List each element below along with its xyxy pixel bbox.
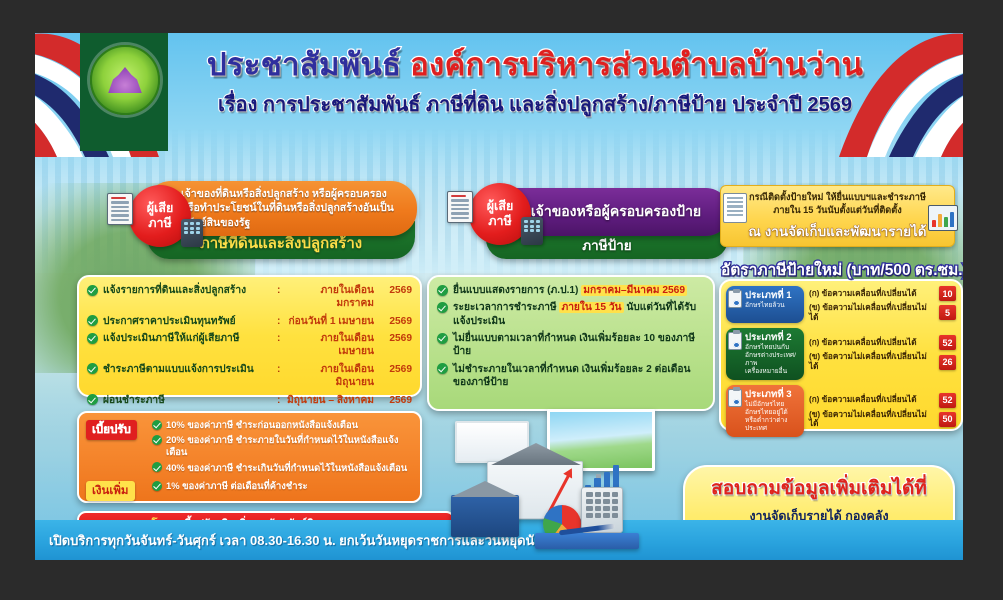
rate-item-text: (ข) ข้อความไม่เคลื่อนที่/เปลี่ยนไม่ได้ <box>809 410 935 430</box>
rate-item: (ก) ข้อความเคลื่อนที่/เปลี่ยนได้ 10 <box>809 286 956 301</box>
rate-row: ประเภทที่ 2 อักษรไทยปนกับ อักษรต่างประเท… <box>726 328 956 380</box>
fine-row: 40% ของค่าภาษี ชำระเกินวันที่กำหนดไว้ในห… <box>152 462 413 474</box>
rate-row: ประเภทที่ 3 ไม่มีอักษรไทย อักษรไทยอยู่ใต… <box>726 385 956 437</box>
schedule-row: แจ้งประเมินภาษีให้แก่ผู้เสียภาษี : ภายใน… <box>87 332 412 359</box>
schedule-colon: : <box>277 363 283 376</box>
notice-line-1: กรณีติดตั้งป้ายใหม่ ให้ยื่นแบบฯและชำระภา… <box>727 191 948 204</box>
surcharge-label: เงินเพิ่ม <box>86 481 135 501</box>
document-icon <box>447 191 473 223</box>
check-icon <box>437 363 448 374</box>
rate-type-name: ประเภทที่ 3 <box>745 389 800 400</box>
schedule-year: 2569 <box>382 315 412 328</box>
schedule-when: ภายในเดือน มิถุนายน <box>285 363 380 390</box>
rule-row: ไม่ยื่นแบบตามเวลาที่กำหนด เงินเพิ่มร้อยล… <box>437 332 705 359</box>
rule-row: ไม่ชำระภายในเวลาที่กำหนด เงินเพิ่มร้อยละ… <box>437 363 705 390</box>
rate-items: (ก) ข้อความเคลื่อนที่/เปลี่ยนได้ 10 (ข) … <box>809 286 956 323</box>
rule-pre: ไม่ชำระภายในเวลาที่กำหนด เงินเพิ่มร้อยละ… <box>453 363 705 390</box>
rule-pre: ระยะเวลาการชำระภาษี <box>453 302 559 313</box>
schedule-when: ภายในเดือน เมษายน <box>285 332 380 359</box>
rate-item: (ข) ข้อความไม่เคลื่อนที่/เปลี่ยนไม่ได้ 2… <box>809 352 956 372</box>
schedule-when: มิถุนายน – สิงหาคม <box>285 394 380 407</box>
fine-text: 10% ของค่าภาษี ชำระก่อนออกหนังสือแจ้งเตื… <box>166 419 358 431</box>
check-icon <box>152 481 162 491</box>
check-icon <box>152 420 162 430</box>
schedule-colon: : <box>277 394 283 407</box>
title-part-red: องค์การบริหารส่วนตำบลบ้านว่าน <box>410 47 863 82</box>
clipboard-check-icon <box>728 389 742 407</box>
fine-row: 10% ของค่าภาษี ชำระก่อนออกหนังสือแจ้งเตื… <box>152 419 413 431</box>
schedule-year: 2569 <box>382 332 412 345</box>
rule-highlight: มกราคม–มีนาคม 2569 <box>581 285 687 296</box>
schedule-label: แจ้งประเมินภาษีให้แก่ผู้เสียภาษี <box>103 332 275 345</box>
taxpayer-badge-sign-line2: ภาษี <box>488 214 512 229</box>
rate-item-value: 50 <box>939 412 956 427</box>
rule-row: ยื่นแบบแสดงรายการ (ภ.ป.1) มกราคม–มีนาคม … <box>437 284 705 297</box>
taxpayer-badge-land-line1: ผู้เสีย <box>147 201 174 216</box>
taxpayer-badge-sign-line1: ผู้เสีย <box>487 199 514 214</box>
rate-item-value: 10 <box>939 286 956 301</box>
rate-row: ประเภทที่ 1 อักษรไทยล้วน (ก) ข้อความเคลื… <box>726 286 956 323</box>
check-icon <box>87 285 98 296</box>
rate-item-value: 26 <box>939 355 956 370</box>
notice-office-highlight: ณ งานจัดเก็บและพัฒนารายได้ <box>727 220 948 242</box>
rule-pre: ยื่นแบบแสดงรายการ (ภ.ป.1) <box>453 285 581 296</box>
rate-type-sub: ไม่มีอักษรไทย อักษรไทยอยู่ใต้ หรือต่ำกว่… <box>745 401 800 433</box>
schedule-colon: : <box>277 284 283 297</box>
fine-group: เบี้ยปรับ 10% ของค่าภาษี ชำระก่อนออกหนัง… <box>86 419 413 477</box>
sign-tax-rules-list: ยื่นแบบแสดงรายการ (ภ.ป.1) มกราคม–มีนาคม … <box>429 277 713 389</box>
sign-tax-rules-panel: ยื่นแบบแสดงรายการ (ภ.ป.1) มกราคม–มีนาคม … <box>427 275 715 411</box>
land-tax-payer-description: เจ้าของที่ดินหรือสิ่งปลูกสร้าง หรือผู้คร… <box>181 187 394 230</box>
schedule-row: ผ่อนชำระภาษี : มิถุนายน – สิงหาคม 2569 <box>87 394 412 407</box>
rate-item: (ก) ข้อความเคลื่อนที่/เปลี่ยนได้ 52 <box>809 335 956 350</box>
sign-rate-table-panel: ประเภทที่ 1 อักษรไทยล้วน (ก) ข้อความเคลื… <box>719 279 963 431</box>
rate-item-text: (ก) ข้อความเคลื่อนที่/เปลี่ยนได้ <box>809 289 935 299</box>
rule-highlight: ภายใน 15 วัน <box>559 302 623 313</box>
check-icon <box>437 302 448 313</box>
check-icon <box>87 363 98 374</box>
rate-item-value: 52 <box>939 393 956 408</box>
rate-item-text: (ข) ข้อความไม่เคลื่อนที่/เปลี่ยนไม่ได้ <box>809 352 935 372</box>
clipboard-check-icon <box>728 332 742 350</box>
fine-row: 20% ของค่าภาษี ชำระภายในวันที่กำหนดไว้ใน… <box>152 434 413 458</box>
rate-item-text: (ข) ข้อความไม่เคลื่อนที่/เปลี่ยนไม่ได้ <box>809 303 935 323</box>
schedule-colon: : <box>277 332 283 345</box>
schedule-year: 2569 <box>382 284 412 297</box>
rate-type-sub: อักษรไทยล้วน <box>745 302 800 310</box>
fine-text: 40% ของค่าภาษี ชำระเกินวันที่กำหนดไว้ในห… <box>166 462 407 474</box>
schedule-when: ภายในเดือน มกราคม <box>285 284 380 311</box>
surcharge-group: เงินเพิ่ม 1% ของค่าภาษี ต่อเดือนที่ค้างช… <box>86 480 413 501</box>
check-icon <box>152 435 162 445</box>
schedule-label: ผ่อนชำระภาษี <box>103 394 275 407</box>
schedule-row: แจ้งรายการที่ดินและสิ่งปลูกสร้าง : ภายใน… <box>87 284 412 311</box>
document-icon <box>723 193 747 223</box>
rate-type-name: ประเภทที่ 2 <box>745 332 800 343</box>
rate-item: (ข) ข้อความไม่เคลื่อนที่/เปลี่ยนไม่ได้ 5… <box>809 410 956 430</box>
surcharge-row: 1% ของค่าภาษี ต่อเดือนที่ค้างชำระ <box>152 480 413 492</box>
contact-title: สอบถามข้อมูลเพิ่มเติมได้ที่ <box>711 473 927 503</box>
check-icon <box>152 462 162 472</box>
check-icon <box>87 315 98 326</box>
schedule-label: ประกาศราคาประเมินทุนทรัพย์ <box>103 315 275 328</box>
calculator-icon <box>521 217 543 245</box>
sign-tax-payer-description: เจ้าของหรือผู้ครอบครองป้าย <box>531 201 701 223</box>
land-tax-schedule-list: แจ้งรายการที่ดินและสิ่งปลูกสร้าง : ภายใน… <box>79 277 420 407</box>
fine-label: เบี้ยปรับ <box>86 420 137 440</box>
rate-type-sub: อักษรไทยปนกับ อักษรต่างประเทศ/ภาพ เครื่อ… <box>745 344 800 376</box>
schedule-label: แจ้งรายการที่ดินและสิ่งปลูกสร้าง <box>103 284 275 297</box>
rule-pre: ไม่ยื่นแบบตามเวลาที่กำหนด เงินเพิ่มร้อยล… <box>453 332 705 359</box>
page-title: ประชาสัมพันธ์ องค์การบริหารส่วนตำบลบ้านว… <box>185 49 885 82</box>
schedule-row: ชำระภาษีตามแบบแจ้งการประเมิน : ภายในเดือ… <box>87 363 412 390</box>
rate-items: (ก) ข้อความเคลื่อนที่/เปลี่ยนได้ 52 (ข) … <box>809 385 956 437</box>
check-icon <box>437 333 448 344</box>
new-sign-notice: กรณีติดตั้งป้ายใหม่ ให้ยื่นแบบฯและชำระภา… <box>720 185 955 247</box>
tax-illustration <box>439 403 689 553</box>
rate-item-value: 52 <box>939 335 956 350</box>
rate-item: (ข) ข้อความไม่เคลื่อนที่/เปลี่ยนไม่ได้ 5 <box>809 303 956 323</box>
schedule-row: ประกาศราคาประเมินทุนทรัพย์ : ก่อนวันที่ … <box>87 315 412 328</box>
calculator-icon <box>181 219 203 247</box>
schedule-colon: : <box>277 315 283 328</box>
document-stack-icon <box>535 533 639 549</box>
schedule-when: ก่อนวันที่ 1 เมษายน <box>285 315 380 328</box>
document-icon <box>107 193 133 225</box>
rate-type-tag: ประเภทที่ 3 ไม่มีอักษรไทย อักษรไทยอยู่ใต… <box>726 385 804 437</box>
rate-type-tag: ประเภทที่ 2 อักษรไทยปนกับ อักษรต่างประเท… <box>726 328 804 380</box>
taxpayer-badge-land-line2: ภาษี <box>148 216 172 231</box>
page-subtitle: เรื่อง การประชาสัมพันธ์ ภาษีที่ดิน และสิ… <box>185 88 885 120</box>
sign-rate-title: อัตราภาษีป้ายใหม่ (บาท/500 ตร.ซม.) <box>721 257 961 282</box>
rate-type-tag: ประเภทที่ 1 อักษรไทยล้วน <box>726 286 804 323</box>
infographic-poster: ประชาสัมพันธ์ องค์การบริหารส่วนตำบลบ้านว… <box>35 33 963 560</box>
rate-item-text: (ก) ข้อความเคลื่อนที่/เปลี่ยนได้ <box>809 338 935 348</box>
rate-item-text: (ก) ข้อความเคลื่อนที่/เปลี่ยนได้ <box>809 395 935 405</box>
clipboard-check-icon <box>728 290 742 308</box>
bar-chart-monitor-icon <box>928 205 958 231</box>
penalty-panel: เบี้ยปรับ 10% ของค่าภาษี ชำระก่อนออกหนัง… <box>77 411 422 503</box>
fine-text: 20% ของค่าภาษี ชำระภายในวันที่กำหนดไว้ใน… <box>166 434 413 458</box>
schedule-year: 2569 <box>382 363 412 376</box>
surcharge-text: 1% ของค่าภาษี ต่อเดือนที่ค้างชำระ <box>166 480 308 492</box>
temple-glyph <box>105 67 145 93</box>
rate-items: (ก) ข้อความเคลื่อนที่/เปลี่ยนได้ 52 (ข) … <box>809 328 956 380</box>
blue-house-icon <box>451 495 519 537</box>
notice-line-2: ภายใน 15 วันนับตั้งแต่วันที่ติดตั้ง <box>727 204 948 217</box>
schedule-year: 2569 <box>382 394 412 407</box>
title-part-blue: ประชาสัมพันธ์ <box>207 47 410 82</box>
check-icon <box>437 285 448 296</box>
rule-row: ระยะเวลาการชำระภาษี ภายใน 15 วัน นับแต่ว… <box>437 301 705 328</box>
rate-type-name: ประเภทที่ 1 <box>745 290 800 301</box>
check-icon <box>87 333 98 344</box>
municipal-seal-icon <box>90 45 160 115</box>
rate-item-value: 5 <box>939 305 956 320</box>
rate-item: (ก) ข้อความเคลื่อนที่/เปลี่ยนได้ 52 <box>809 393 956 408</box>
check-icon <box>87 394 98 405</box>
land-tax-schedule-panel: แจ้งรายการที่ดินและสิ่งปลูกสร้าง : ภายใน… <box>77 275 422 397</box>
schedule-label: ชำระภาษีตามแบบแจ้งการประเมิน <box>103 363 275 376</box>
sign-tax-category-label: ภาษีป้าย <box>582 234 631 256</box>
